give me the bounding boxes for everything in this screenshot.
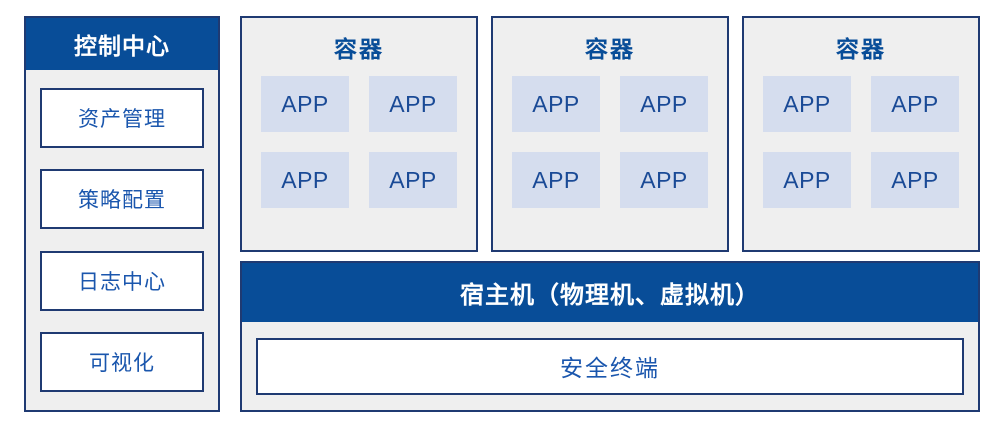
app-box[interactable]: APP [512, 76, 600, 132]
app-box[interactable]: APP [261, 76, 349, 132]
control-center-item-list: 资产管理 策略配置 日志中心 可视化 [26, 70, 218, 410]
control-center-item-policy-configuration[interactable]: 策略配置 [40, 169, 204, 229]
app-label: APP [891, 91, 939, 118]
app-box[interactable]: APP [763, 152, 851, 208]
app-box[interactable]: APP [369, 152, 457, 208]
container-panel-2: 容器 APP APP APP APP [491, 16, 729, 252]
host-machine-body: 安全终端 [242, 322, 978, 410]
app-label: APP [389, 91, 437, 118]
app-label: APP [640, 167, 688, 194]
control-center-panel: 控制中心 资产管理 策略配置 日志中心 可视化 [24, 16, 220, 412]
container-title: 容器 [585, 30, 635, 64]
app-label: APP [532, 91, 580, 118]
architecture-diagram: 控制中心 资产管理 策略配置 日志中心 可视化 容器 APP [0, 0, 1001, 437]
app-label: APP [532, 167, 580, 194]
container-row: 容器 APP APP APP APP 容器 APP [240, 16, 980, 252]
app-box[interactable]: APP [871, 76, 959, 132]
app-box[interactable]: APP [369, 76, 457, 132]
app-label: APP [783, 167, 831, 194]
control-center-item-label: 资产管理 [78, 103, 166, 133]
app-box[interactable]: APP [871, 152, 959, 208]
control-center-item-log-center[interactable]: 日志中心 [40, 251, 204, 311]
container-title: 容器 [836, 30, 886, 64]
app-box[interactable]: APP [763, 76, 851, 132]
container-title: 容器 [334, 30, 384, 64]
container-panel-3: 容器 APP APP APP APP [742, 16, 980, 252]
control-center-item-asset-management[interactable]: 资产管理 [40, 88, 204, 148]
app-grid: APP APP APP APP [512, 76, 708, 208]
control-center-item-label: 可视化 [89, 347, 155, 377]
control-center-item-label: 日志中心 [78, 266, 166, 296]
app-label: APP [281, 91, 329, 118]
control-center-title: 控制中心 [26, 18, 218, 70]
app-grid: APP APP APP APP [763, 76, 959, 208]
app-label: APP [891, 167, 939, 194]
app-label: APP [281, 167, 329, 194]
app-label: APP [640, 91, 688, 118]
app-box[interactable]: APP [620, 76, 708, 132]
app-box[interactable]: APP [261, 152, 349, 208]
app-box[interactable]: APP [512, 152, 600, 208]
app-grid: APP APP APP APP [261, 76, 457, 208]
host-machine-panel: 宿主机（物理机、虚拟机） 安全终端 [240, 261, 980, 412]
container-panel-1: 容器 APP APP APP APP [240, 16, 478, 252]
security-terminal-box[interactable]: 安全终端 [256, 338, 964, 395]
control-center-item-visualization[interactable]: 可视化 [40, 332, 204, 392]
security-terminal-label: 安全终端 [560, 349, 660, 383]
app-box[interactable]: APP [620, 152, 708, 208]
control-center-item-label: 策略配置 [78, 184, 166, 214]
app-label: APP [389, 167, 437, 194]
app-label: APP [783, 91, 831, 118]
host-machine-title: 宿主机（物理机、虚拟机） [242, 263, 978, 322]
